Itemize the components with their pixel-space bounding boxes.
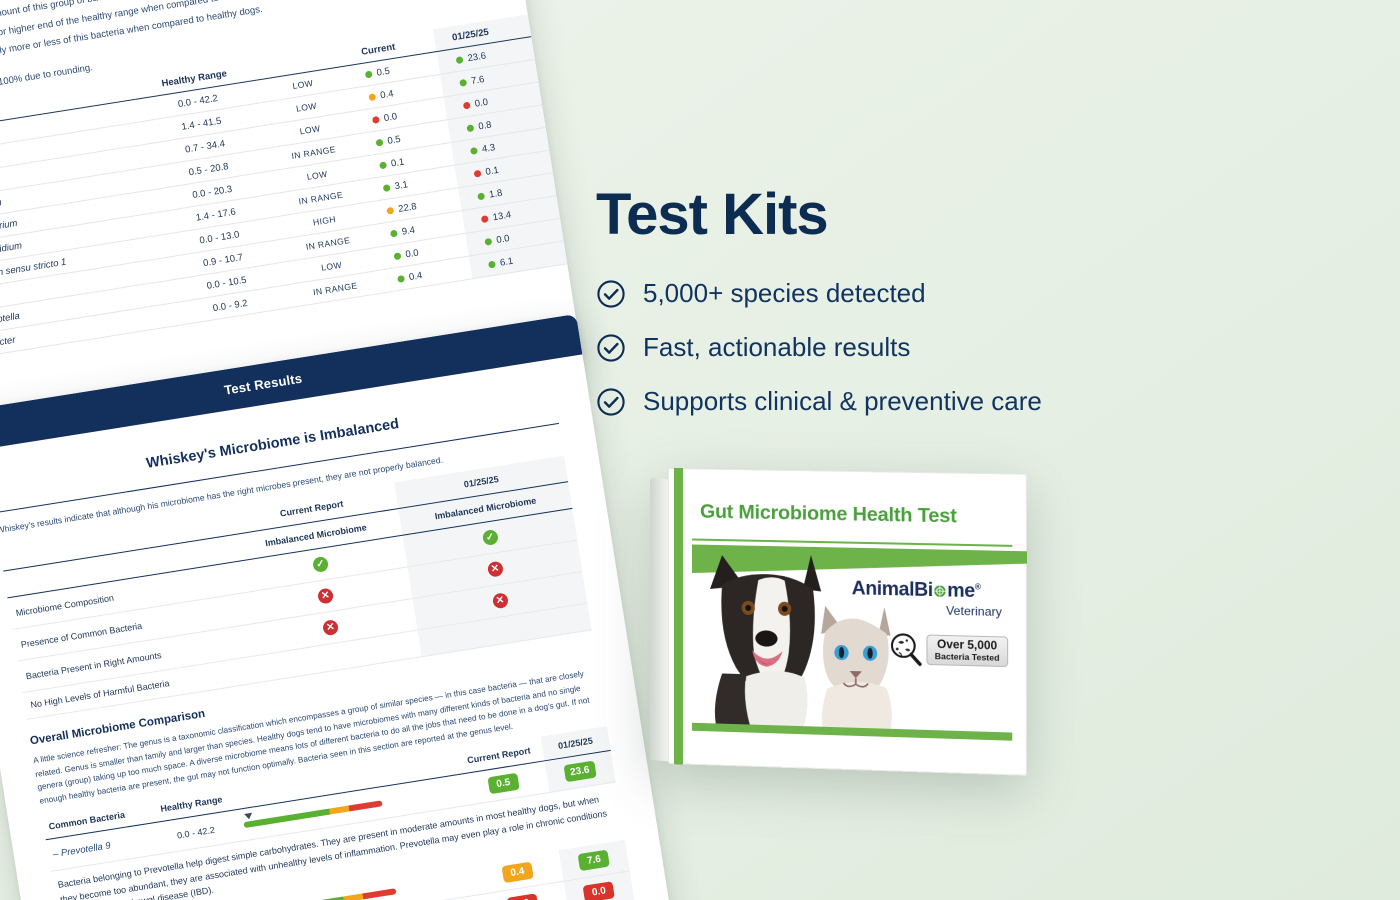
- brand-text-lead: AnimalBi: [852, 578, 933, 601]
- status-dot: [480, 215, 488, 223]
- box-green-left-stripe: [674, 468, 683, 764]
- value-badge: 0.0: [506, 893, 538, 900]
- benefit-item-1: 5,000+ species detected: [596, 278, 1356, 309]
- status-dot: [389, 229, 397, 237]
- check-circle-icon: [596, 279, 626, 309]
- brand-text-tail: me: [947, 580, 975, 602]
- box-bacteria-badge: Over 5,000 Bacteria Tested: [888, 632, 1007, 670]
- value-badge: 0.5: [487, 773, 519, 794]
- status-dot: [375, 138, 383, 146]
- badge-plate: Over 5,000 Bacteria Tested: [926, 635, 1007, 668]
- status-dot: [372, 116, 380, 124]
- check-circle-icon: [596, 333, 626, 363]
- status-dot: [466, 124, 474, 132]
- benefit-label: 5,000+ species detected: [643, 278, 926, 309]
- dog-and-cat-illustration: [692, 544, 895, 730]
- box-pet-photo: [692, 544, 895, 730]
- status-dot: [364, 70, 372, 78]
- page-root: dog has the right amount of this group o…: [0, 0, 1400, 900]
- status-dot: [477, 192, 485, 200]
- status-dot: [470, 147, 478, 155]
- status-dot: [382, 184, 390, 192]
- badge-line-2: Bacteria Tested: [935, 652, 1000, 663]
- brand-registered-mark: ®: [975, 582, 981, 591]
- status-dot: [462, 101, 470, 109]
- cross-icon: ✕: [492, 593, 509, 610]
- magnifying-glass-icon: [888, 632, 923, 667]
- status-dot: [455, 56, 463, 64]
- status-dot: [488, 260, 496, 268]
- test-results-body: Whiskey's Microbiome is Imbalanced Whisk…: [0, 354, 668, 900]
- benefit-item-2: Fast, actionable results: [596, 332, 1356, 363]
- benefit-list: 5,000+ species detectedFast, actionable …: [596, 278, 1356, 417]
- check-circle-icon: [596, 387, 626, 417]
- box-title: Gut Microbiome Health Test: [700, 501, 1010, 530]
- marketing-panel: Test Kits 5,000+ species detectedFast, a…: [596, 186, 1356, 440]
- benefit-label: Supports clinical & preventive care: [643, 386, 1042, 417]
- value-badge: 7.6: [578, 849, 610, 870]
- box-brand-logo: AnimalBime® Veterinary: [852, 578, 1017, 619]
- genus-label: – Prevotella 9: [52, 841, 111, 861]
- cat-icon: [821, 606, 892, 731]
- benefit-item-3: Supports clinical & preventive care: [596, 386, 1356, 417]
- report-page-test-results: Test Results Whiskey's Microbiome is Imb…: [0, 314, 676, 900]
- value-badge: 23.6: [563, 761, 597, 783]
- product-box[interactable]: Gut Microbiome Health Test: [650, 462, 1030, 772]
- status-dot: [459, 78, 467, 86]
- status-dot: [473, 169, 481, 177]
- dog-icon: [710, 553, 821, 729]
- cross-icon: ✕: [317, 588, 334, 605]
- brand-microbe-o-icon: [933, 584, 947, 599]
- page-title: Test Kits: [596, 186, 1356, 244]
- product-box-3d: Gut Microbiome Health Test: [650, 462, 1030, 772]
- status-dot: [484, 237, 492, 245]
- cross-icon: ✕: [322, 619, 339, 636]
- value-badge: 0.0: [583, 881, 615, 900]
- benefit-label: Fast, actionable results: [643, 332, 910, 363]
- status-dot: [368, 93, 376, 101]
- cross-icon: ✕: [487, 561, 504, 578]
- check-icon: ✓: [482, 529, 499, 546]
- brand-wordmark: AnimalBime®: [852, 578, 1017, 604]
- value-marker-icon: [244, 813, 253, 820]
- status-dot: [379, 161, 387, 169]
- check-icon: ✓: [312, 556, 329, 573]
- product-box-front-panel: Gut Microbiome Health Test: [668, 468, 1027, 776]
- value-badge: 0.4: [501, 861, 533, 882]
- status-dot: [386, 206, 394, 214]
- status-dot: [393, 252, 401, 260]
- status-dot: [397, 275, 405, 283]
